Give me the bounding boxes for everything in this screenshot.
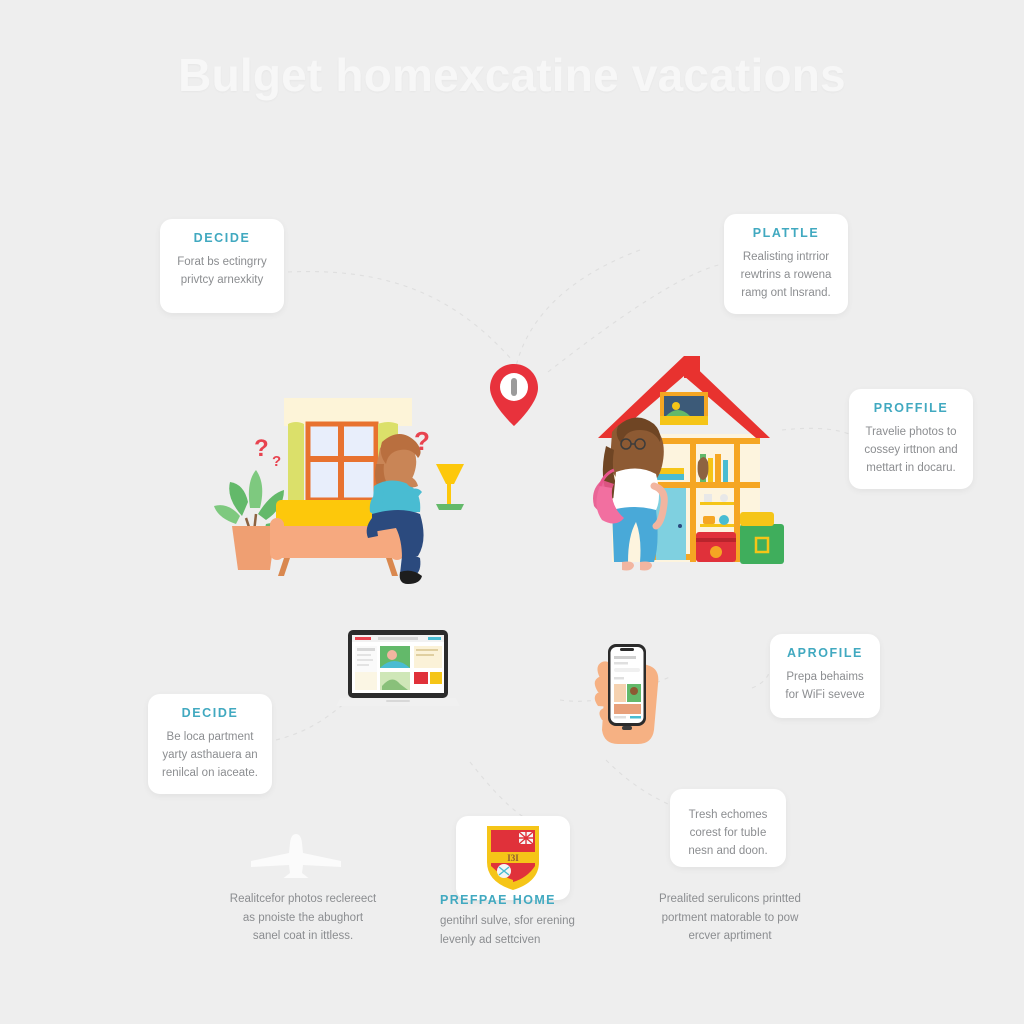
laptop-listing-website-illustration (336, 628, 460, 720)
svg-text:?: ? (272, 453, 281, 470)
card-aprofile-heading: APROFILE (784, 646, 866, 660)
woman-with-backpack-at-house-illustration (584, 346, 790, 590)
card-decide-bottom-body: Be loca partment yarty asthauera an reni… (162, 729, 258, 782)
card-decide-top[interactable]: DECIDE Forat bs ectingrry privtcy arnexk… (160, 219, 284, 313)
card-decide-top-body: Forat bs ectingrry privtcy arnexkity (174, 254, 270, 290)
card-aprofile[interactable]: APROFILE Prepa behaims for WiFi seveve (770, 634, 880, 718)
caption-plane: Realitcefor photos reclereect as pnoiste… (228, 890, 378, 946)
card-proffile[interactable]: PROFFILE Travelie photos to cossey irttn… (849, 389, 973, 489)
svg-text:?: ? (414, 426, 430, 456)
connector-phone-to-aprofile-2 (752, 670, 770, 688)
card-aprofile-body: Prepa behaims for WiFi seveve (784, 669, 866, 705)
caption-right: Prealited serulicons printted portment m… (655, 890, 805, 946)
shield-crest-icon: I3I (483, 822, 543, 894)
hand-holding-phone-app-illustration (592, 636, 662, 746)
connector-phone-to-fresh (606, 760, 672, 806)
card-decide-bottom[interactable]: DECIDE Be loca partment yarty asthauera … (148, 694, 272, 794)
connector-decide-to-pin (288, 272, 512, 360)
svg-text:I3I: I3I (507, 853, 519, 863)
location-pin-icon (488, 362, 540, 428)
card-fresh[interactable]: Tresh echomes corest for tubIe nesn and … (670, 789, 786, 867)
woman-thinking-on-couch-illustration: ? ? ? (196, 398, 478, 590)
caption-shield-heading: PREFPAE HOME (440, 890, 600, 910)
card-fresh-body: Tresh echomes corest for tubIe nesn and … (684, 807, 772, 860)
connector-house-to-proffile (782, 428, 849, 434)
caption-shield: PREFPAE HOME gentihrl sulve, sfor erenin… (440, 890, 600, 950)
svg-text:?: ? (254, 435, 269, 462)
caption-plane-body: Realitcefor photos reclereect as pnoiste… (230, 893, 376, 942)
card-proffile-body: Travelie photos to cossey irttnon and me… (863, 424, 959, 477)
card-proffile-heading: PROFFILE (863, 401, 959, 415)
card-decide-bottom-heading: DECIDE (162, 706, 258, 720)
caption-shield-body: gentihrl sulve, sfor erening levenly ad … (440, 915, 575, 946)
card-decide-top-heading: DECIDE (174, 231, 270, 245)
infographic-canvas: Bulget homexcatine vacations (0, 0, 1024, 1024)
card-plattle[interactable]: PLATTLE Realisting intrrior rewtrins a r… (724, 214, 848, 314)
card-plattle-body: Realisting intrrior rewtrins a rowena ra… (738, 249, 834, 302)
airplane-icon (248, 830, 344, 878)
caption-right-body: Prealited serulicons printted portment m… (659, 893, 801, 942)
page-title: Bulget homexcatine vacations (0, 48, 1024, 102)
card-plattle-heading: PLATTLE (738, 226, 834, 240)
